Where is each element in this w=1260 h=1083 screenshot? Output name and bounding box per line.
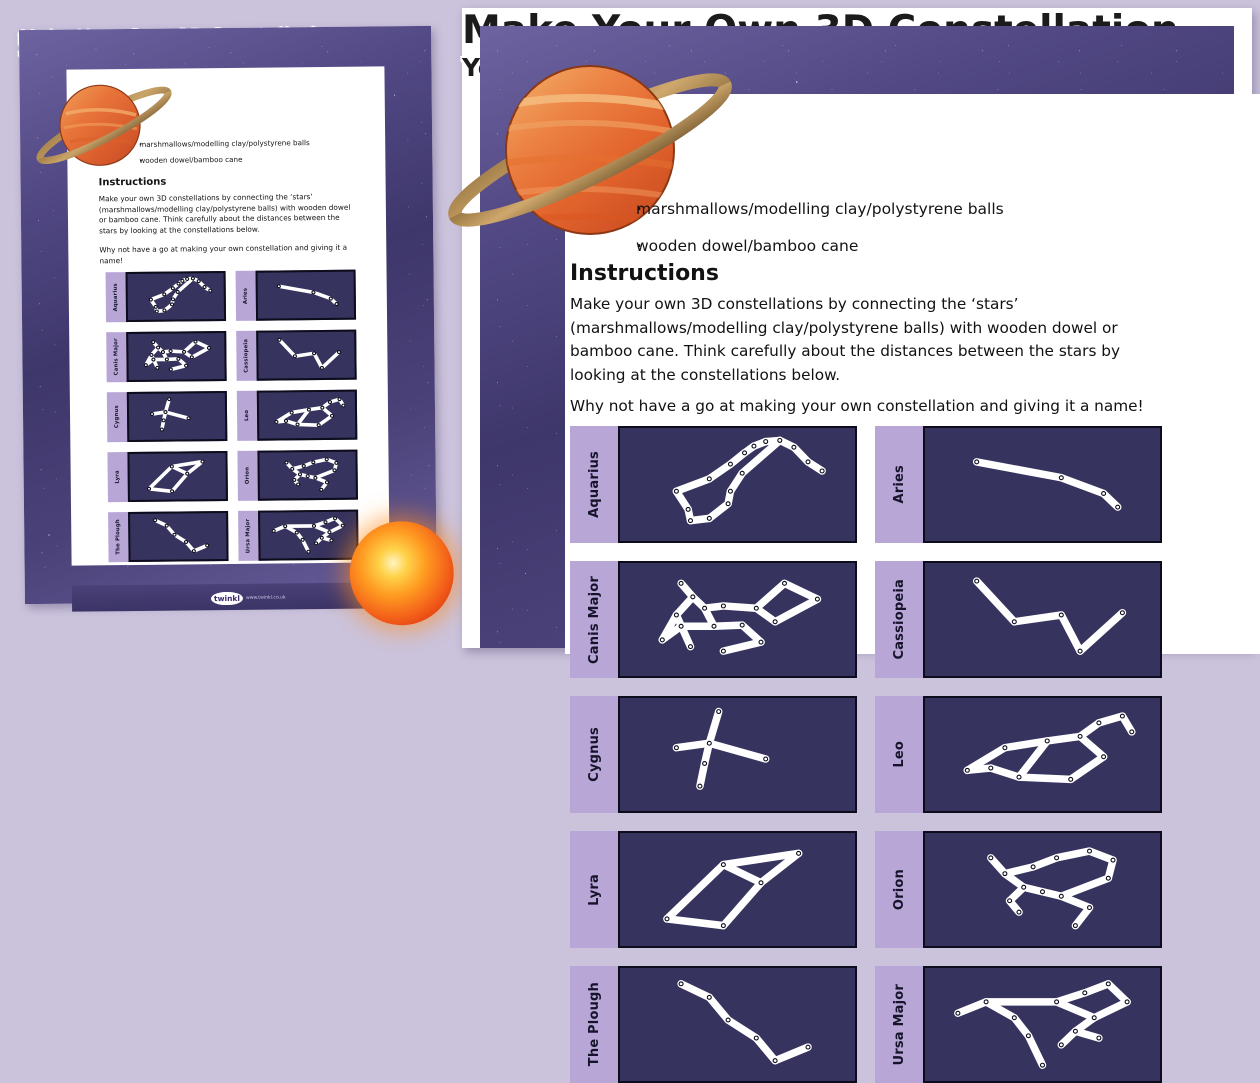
constellation-name: Aries [892, 465, 907, 503]
constellation-label: The Plough [570, 966, 618, 1083]
instructions-paragraph-2: Why not have a go at making your own con… [570, 395, 1150, 419]
constellation-label: Orion [875, 831, 923, 948]
constellation-label: Cassiopeia [236, 331, 257, 381]
constellation-label: Ursa Major [875, 966, 923, 1083]
materials-list: marshmallows/modelling clay/polystyrene … [617, 191, 1004, 265]
constellation-star-map [923, 966, 1162, 1083]
constellation-label: Aquarius [106, 272, 127, 322]
constellation-name: The Plough [115, 519, 121, 555]
constellation-label: Ursa Major [238, 511, 259, 561]
constellation-label: Lyra [107, 452, 128, 502]
constellation-card-aquarius: Aquarius [106, 271, 227, 322]
constellation-star-map [126, 271, 227, 322]
constellation-star-map [618, 831, 857, 948]
constellation-card-leo: Leo [875, 696, 1162, 813]
constellation-card-orion: Orion [237, 450, 358, 501]
constellation-star-map [256, 270, 357, 321]
constellation-label: Leo [237, 391, 258, 441]
constellation-star-map [618, 966, 857, 1083]
list-item: wooden dowel/bamboo cane [130, 151, 310, 169]
constellation-star-map [256, 330, 357, 381]
constellation-label: Lyra [570, 831, 618, 948]
constellation-star-map [127, 451, 228, 502]
constellation-card-cygnus: Cygnus [107, 391, 228, 442]
constellation-name: Leo [244, 410, 250, 421]
constellation-label: Aries [875, 426, 923, 543]
constellation-star-map [923, 696, 1162, 813]
constellation-star-map [618, 561, 857, 678]
constellation-label: Cygnus [570, 696, 618, 813]
constellation-star-map [618, 696, 857, 813]
constellation-name: Ursa Major [245, 519, 251, 553]
constellation-label: Aries [236, 271, 257, 321]
instructions-heading: Instructions [570, 261, 719, 286]
constellation-name: Lyra [115, 470, 121, 484]
constellation-name: Cassiopeia [892, 579, 907, 660]
constellation-name: Ursa Major [892, 984, 907, 1066]
constellation-name: Orion [892, 869, 907, 910]
constellation-card-aries: Aries [875, 426, 1162, 543]
list-item: marshmallows/modelling clay/polystyrene … [130, 135, 310, 153]
twinkl-logo-cloud: twinkl [211, 592, 243, 605]
constellation-name: Aries [243, 288, 249, 304]
constellation-grid: AquariusAriesCanis MajorCassiopeiaCygnus… [570, 426, 1160, 726]
constellation-star-map [923, 831, 1162, 948]
constellation-name: Cygnus [587, 727, 602, 782]
instructions-paragraph-2: Why not have a go at making your own con… [99, 243, 369, 267]
constellation-card-cassiopeia: Cassiopeia [875, 561, 1162, 678]
constellation-name: Canis Major [113, 339, 119, 376]
right-zoomed-page[interactable]: Make Your Own 3D Constellation You will … [462, 8, 1252, 648]
constellation-star-map [923, 561, 1162, 678]
twinkl-logo[interactable]: twinkl www.twinkl.co.uk [211, 591, 286, 605]
list-item: wooden dowel/bamboo cane [617, 228, 1004, 265]
constellation-label: Leo [875, 696, 923, 813]
constellation-card-aries: Aries [236, 270, 357, 321]
constellation-star-map [258, 510, 359, 561]
constellation-card-lyra: Lyra [570, 831, 857, 948]
constellation-name: Canis Major [587, 576, 602, 664]
constellation-card-the-plough: The Plough [108, 511, 229, 562]
constellation-star-map [127, 391, 228, 442]
constellation-name: The Plough [587, 982, 602, 1066]
constellation-card-ursa-major: Ursa Major [875, 966, 1162, 1083]
constellation-grid: AquariusAriesCanis MajorCassiopeiaCygnus… [106, 270, 359, 563]
constellation-star-map [257, 390, 358, 441]
constellation-name: Cassiopeia [243, 339, 249, 373]
constellation-star-map [923, 426, 1162, 543]
twinkl-url: www.twinkl.co.uk [246, 595, 286, 600]
constellation-name: Aquarius [113, 283, 119, 311]
constellation-label: Aquarius [570, 426, 618, 543]
constellation-label: The Plough [108, 512, 129, 562]
constellation-star-map [618, 426, 857, 543]
constellation-name: Lyra [587, 874, 602, 906]
left-preview-page[interactable]: Make Your Own 3D Constellation You will … [19, 26, 437, 604]
constellation-card-cassiopeia: Cassiopeia [236, 330, 357, 381]
constellation-card-lyra: Lyra [107, 451, 228, 502]
instructions-paragraph-1: Make your own 3D constellations by conne… [570, 293, 1132, 387]
constellation-star-map [128, 511, 229, 562]
constellation-card-orion: Orion [875, 831, 1162, 948]
constellation-card-canis-major: Canis Major [106, 331, 227, 382]
constellation-card-cygnus: Cygnus [570, 696, 857, 813]
constellation-name: Leo [892, 741, 907, 768]
constellation-card-aquarius: Aquarius [570, 426, 857, 543]
constellation-star-map [126, 331, 227, 382]
constellation-card-ursa-major: Ursa Major [238, 510, 359, 561]
constellation-name: Aquarius [587, 451, 602, 518]
constellation-card-leo: Leo [237, 390, 358, 441]
constellation-label: Orion [237, 451, 258, 501]
constellation-name: Orion [245, 467, 251, 484]
constellation-name: Cygnus [114, 406, 120, 429]
constellation-label: Canis Major [570, 561, 618, 678]
materials-list: marshmallows/modelling clay/polystyrene … [130, 135, 310, 169]
constellation-star-map [257, 450, 358, 501]
constellation-label: Canis Major [106, 332, 127, 382]
constellation-card-canis-major: Canis Major [570, 561, 857, 678]
constellation-label: Cygnus [107, 392, 128, 442]
instructions-paragraph-1: Make your own 3D constellations by conne… [99, 192, 357, 237]
constellation-card-the-plough: The Plough [570, 966, 857, 1083]
list-item: marshmallows/modelling clay/polystyrene … [617, 191, 1004, 228]
constellation-label: Cassiopeia [875, 561, 923, 678]
instructions-heading: Instructions [99, 177, 167, 189]
